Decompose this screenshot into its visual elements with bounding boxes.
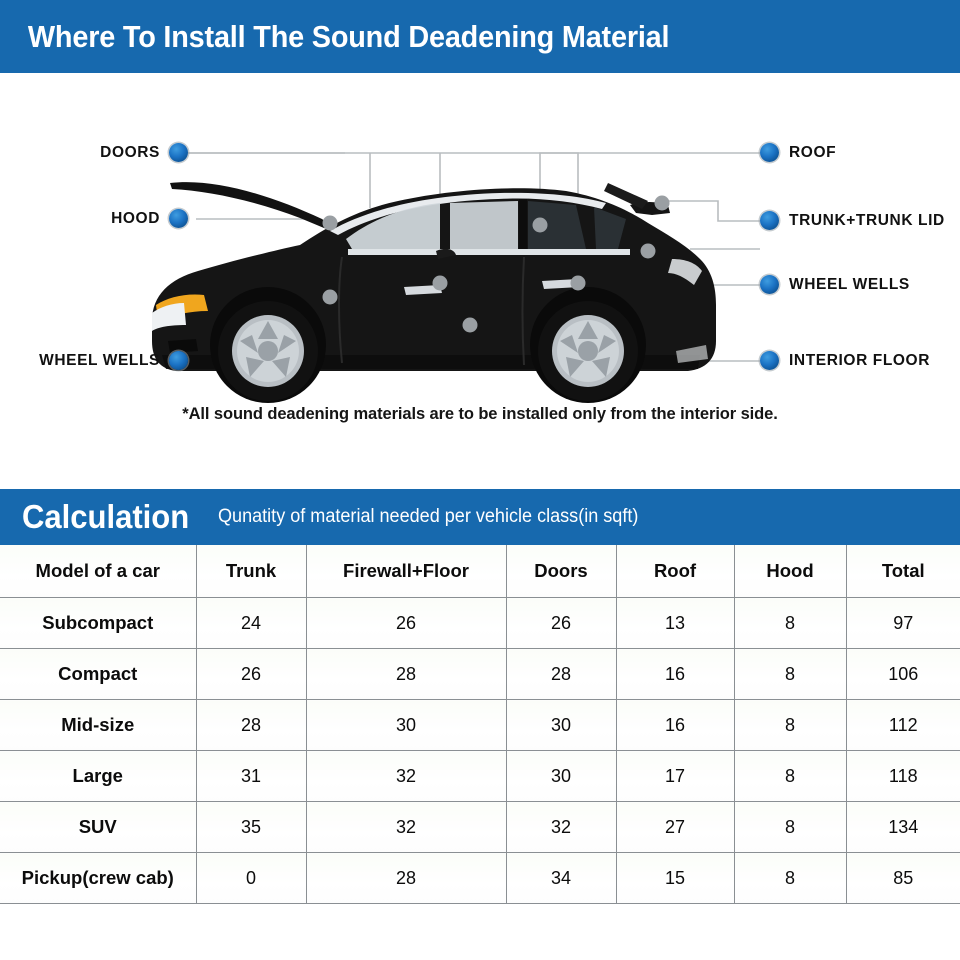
anchor-dot-trunk-lid [655, 196, 670, 211]
cell-doors: 30 [506, 751, 616, 802]
table-row: Compact 26 28 28 16 8 106 [0, 649, 960, 700]
cell-total: 97 [846, 598, 960, 649]
callout-hood[interactable]: HOOD [0, 209, 188, 228]
col-header-trunk: Trunk [196, 545, 306, 598]
cell-model: Subcompact [0, 598, 196, 649]
callout-label-wheel-wells-right: WHEEL WELLS [789, 276, 910, 294]
bullet-dot-icon [169, 143, 188, 162]
bullet-dot-icon [760, 351, 779, 370]
car-b-pillar [519, 199, 527, 251]
cell-trunk: 28 [196, 700, 306, 751]
anchor-dot-rear-door [571, 276, 586, 291]
calculation-table: Model of a car Trunk Firewall+Floor Door… [0, 545, 960, 904]
cell-model: Mid-size [0, 700, 196, 751]
cell-roof: 17 [616, 751, 734, 802]
table-row: Pickup(crew cab) 0 28 34 15 8 85 [0, 853, 960, 904]
cell-roof: 13 [616, 598, 734, 649]
car-front-door-glass [450, 201, 518, 249]
cell-total: 112 [846, 700, 960, 751]
cell-trunk: 35 [196, 802, 306, 853]
callout-trunk[interactable]: TRUNK+TRUNK LID [760, 211, 945, 230]
callout-label-hood: HOOD [111, 210, 160, 228]
table-header-row: Model of a car Trunk Firewall+Floor Door… [0, 545, 960, 598]
cell-doors: 30 [506, 700, 616, 751]
anchor-dot-interior-floor [463, 318, 478, 333]
calculation-title: Calculation [22, 498, 189, 536]
cell-total: 85 [846, 853, 960, 904]
callout-roof[interactable]: ROOF [760, 143, 836, 162]
table-row: SUV 35 32 32 27 8 134 [0, 802, 960, 853]
cell-firewall-floor: 28 [306, 649, 506, 700]
car-graphic [152, 182, 716, 403]
page-title: Where To Install The Sound Deadening Mat… [0, 19, 669, 55]
bullet-dot-icon [760, 143, 779, 162]
col-header-total: Total [846, 545, 960, 598]
cell-firewall-floor: 32 [306, 802, 506, 853]
cell-hood: 8 [734, 751, 846, 802]
anchor-dot-front-door [433, 276, 448, 291]
cell-total: 106 [846, 649, 960, 700]
bullet-dot-icon [760, 211, 779, 230]
calculation-table-wrap: Model of a car Trunk Firewall+Floor Door… [0, 545, 960, 904]
cell-model: Pickup(crew cab) [0, 853, 196, 904]
car-belt-trim [348, 249, 630, 255]
cell-trunk: 0 [196, 853, 306, 904]
diagram-footnote: *All sound deadening materials are to be… [0, 405, 960, 424]
table-header: Model of a car Trunk Firewall+Floor Door… [0, 545, 960, 598]
anchor-dot-hood [323, 216, 338, 231]
car-rear-wheel [538, 301, 638, 401]
cell-hood: 8 [734, 649, 846, 700]
cell-roof: 16 [616, 649, 734, 700]
callout-label-interior-floor: INTERIOR FLOOR [789, 352, 930, 370]
callout-label-roof: ROOF [789, 144, 836, 162]
calculation-subtitle: Qunatity of material needed per vehicle … [218, 506, 638, 528]
cell-total: 134 [846, 802, 960, 853]
anchor-dot-trunk [641, 244, 656, 259]
cell-firewall-floor: 30 [306, 700, 506, 751]
col-header-roof: Roof [616, 545, 734, 598]
page-header-banner: Where To Install The Sound Deadening Mat… [0, 0, 960, 73]
callout-label-wheel-wells-left: WHEEL WELLS [39, 352, 160, 370]
cell-doors: 28 [506, 649, 616, 700]
infographic-page: Where To Install The Sound Deadening Mat… [0, 0, 960, 960]
cell-firewall-floor: 26 [306, 598, 506, 649]
cell-doors: 34 [506, 853, 616, 904]
leader-line-trunk-a [665, 201, 760, 221]
car-front-wheel [218, 301, 318, 401]
calculation-header-banner: Calculation Qunatity of material needed … [0, 489, 960, 545]
callout-label-trunk: TRUNK+TRUNK LID [789, 212, 945, 230]
cell-model: Compact [0, 649, 196, 700]
cell-firewall-floor: 32 [306, 751, 506, 802]
bullet-dot-icon [169, 209, 188, 228]
table-row: Subcompact 24 26 26 13 8 97 [0, 598, 960, 649]
col-header-doors: Doors [506, 545, 616, 598]
table-row: Mid-size 28 30 30 16 8 112 [0, 700, 960, 751]
cell-trunk: 24 [196, 598, 306, 649]
table-row: Large 31 32 30 17 8 118 [0, 751, 960, 802]
cell-trunk: 31 [196, 751, 306, 802]
callout-wheel-wells-left[interactable]: WHEEL WELLS [0, 351, 188, 370]
cell-total: 118 [846, 751, 960, 802]
cell-hood: 8 [734, 802, 846, 853]
cell-roof: 16 [616, 700, 734, 751]
col-header-firewall-floor: Firewall+Floor [306, 545, 506, 598]
cell-model: Large [0, 751, 196, 802]
cell-model: SUV [0, 802, 196, 853]
callout-wheel-wells-right[interactable]: WHEEL WELLS [760, 275, 910, 294]
bullet-dot-icon [169, 351, 188, 370]
cell-trunk: 26 [196, 649, 306, 700]
car-hood-open [170, 182, 336, 233]
callout-label-doors: DOORS [100, 144, 160, 162]
cell-doors: 32 [506, 802, 616, 853]
callout-doors[interactable]: DOORS [0, 143, 188, 162]
col-header-hood: Hood [734, 545, 846, 598]
callout-interior-floor[interactable]: INTERIOR FLOOR [760, 351, 930, 370]
leader-line-roof [540, 153, 760, 191]
cell-roof: 15 [616, 853, 734, 904]
cell-roof: 27 [616, 802, 734, 853]
anchor-dot-roof [533, 218, 548, 233]
col-header-model: Model of a car [0, 545, 196, 598]
cell-hood: 8 [734, 700, 846, 751]
cell-firewall-floor: 28 [306, 853, 506, 904]
cell-doors: 26 [506, 598, 616, 649]
cell-hood: 8 [734, 853, 846, 904]
cell-hood: 8 [734, 598, 846, 649]
anchor-dot-wheelwell-left [323, 290, 338, 305]
bullet-dot-icon [760, 275, 779, 294]
table-body: Subcompact 24 26 26 13 8 97 Compact 26 2… [0, 598, 960, 904]
